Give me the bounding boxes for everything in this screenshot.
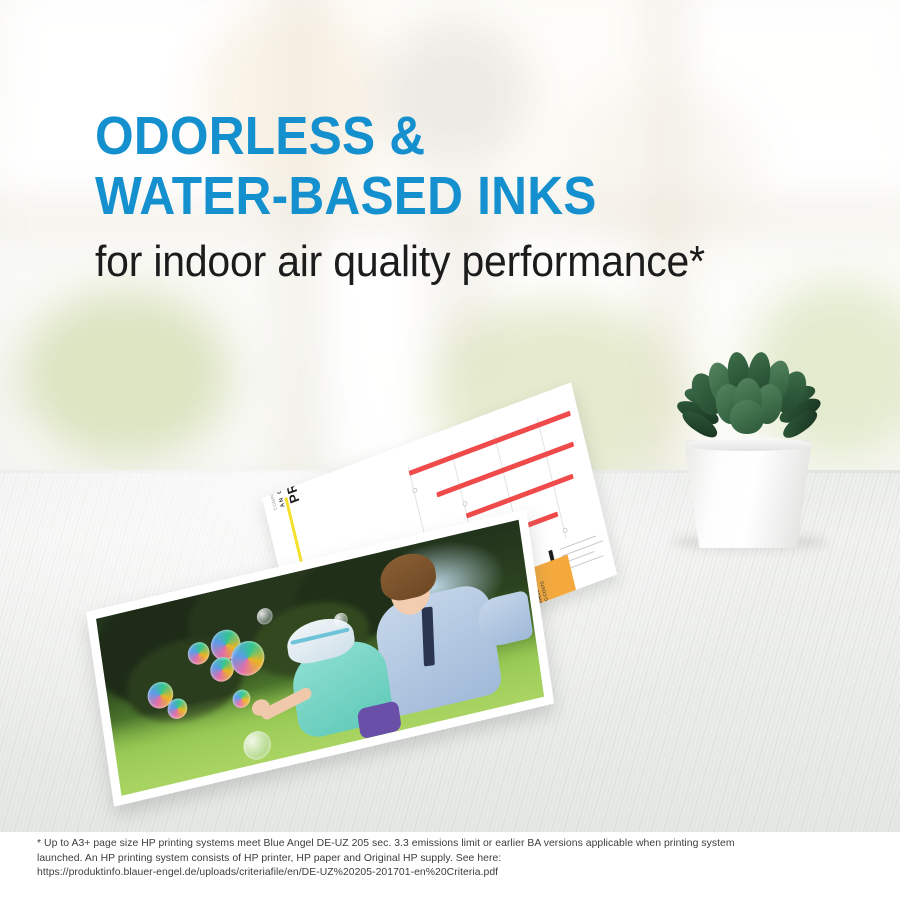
footnote-band: * Up to A3+ page size HP printing system…: [0, 832, 900, 900]
pot-rim: [684, 438, 812, 451]
plant-pot: [684, 440, 812, 548]
printed-photo: [86, 612, 566, 832]
headline-subline: for indoor air quality performance*: [95, 237, 820, 287]
footnote-line-1: * Up to A3+ page size HP printing system…: [37, 837, 873, 852]
headline-line-2: WATER-BASED INKS: [95, 166, 813, 226]
footnote-text: * Up to A3+ page size HP printing system…: [37, 837, 873, 881]
marketing-banner: ODORLESS & WATER-BASED INKS for indoor a…: [0, 0, 900, 900]
headline-block: ODORLESS & WATER-BASED INKS for indoor a…: [95, 106, 875, 287]
footnote-line-2: launched. An HP printing system consists…: [37, 852, 873, 867]
footnote-line-3: https://produktinfo.blauer-engel.de/uplo…: [37, 866, 873, 881]
potted-succulent: [660, 338, 850, 548]
headline-line-1: ODORLESS &: [95, 106, 813, 166]
